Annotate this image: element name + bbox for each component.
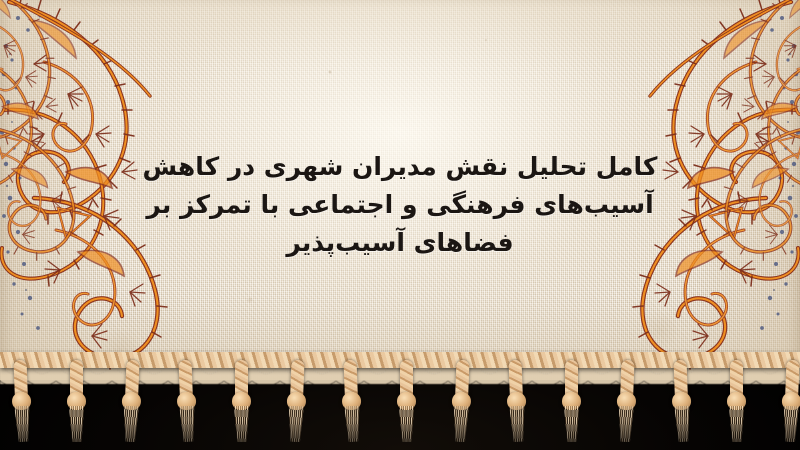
tassel-skirt xyxy=(614,406,636,443)
textile-banner-canvas: کامل تحلیل نقش مدیران شهری در کاهش آسیب‌… xyxy=(0,0,800,450)
tassel-skirt xyxy=(726,406,747,442)
tassel xyxy=(611,352,641,449)
tassel-skirt xyxy=(561,406,582,442)
tassel xyxy=(6,352,36,449)
tassel-skirt xyxy=(66,406,87,442)
tassel xyxy=(228,352,254,448)
tassel xyxy=(281,352,311,449)
tassel-skirt xyxy=(341,406,363,443)
title-line-1: کامل تحلیل نقش مدیران شهری در کاهش xyxy=(0,148,800,186)
tassel xyxy=(666,352,696,449)
tassel-skirt xyxy=(779,406,800,443)
tassel xyxy=(558,352,584,448)
tassel-skirt xyxy=(284,406,306,443)
tassel-skirt xyxy=(506,406,528,443)
tassel-skirt xyxy=(671,406,693,443)
tassel xyxy=(446,352,476,449)
tassel xyxy=(116,352,146,449)
tassel xyxy=(171,352,201,449)
tassel xyxy=(63,352,89,448)
tassel-skirt xyxy=(449,406,471,443)
tassel xyxy=(776,352,800,449)
tassel-skirt xyxy=(231,406,252,442)
title-line-3: فضاهای آسیب‌پذیر xyxy=(0,224,800,262)
title-line-2: آسیب‌های فرهنگی و اجتماعی با تمرکز بر xyxy=(0,186,800,224)
tassel-skirt xyxy=(176,406,198,443)
tassel-fringe xyxy=(0,352,800,450)
page-title: کامل تحلیل نقش مدیران شهری در کاهش آسیب‌… xyxy=(0,148,800,262)
tassel-skirt xyxy=(11,406,33,443)
tassel xyxy=(501,352,531,449)
tassel xyxy=(723,352,749,448)
tassel xyxy=(336,352,366,449)
tassel-skirt xyxy=(396,406,417,442)
tassel xyxy=(393,352,419,448)
tassel-skirt xyxy=(119,406,141,443)
